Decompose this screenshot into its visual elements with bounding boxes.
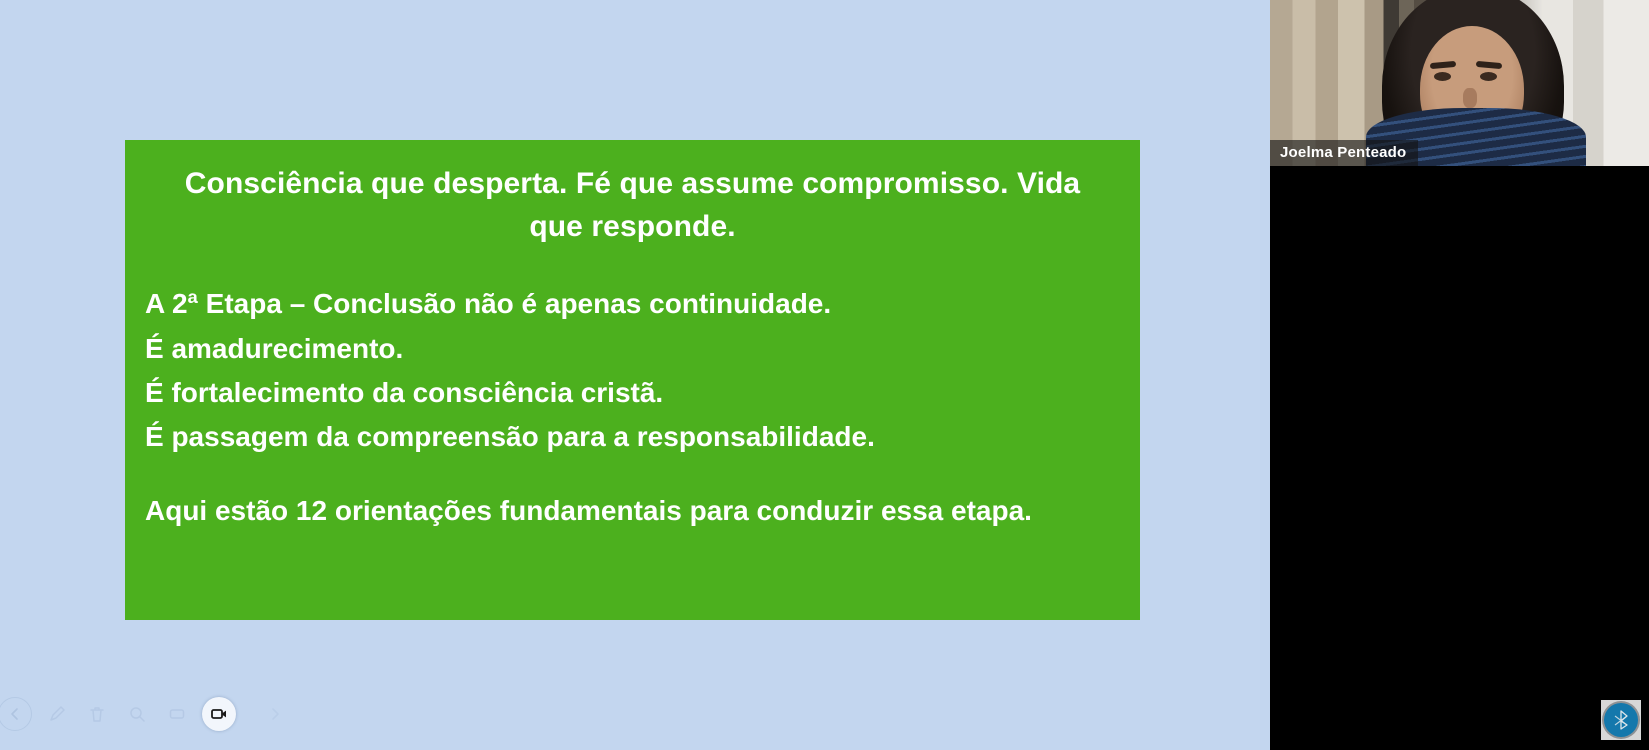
slide-content-card: Consciência que desperta. Fé que assume … — [125, 140, 1140, 620]
pen-icon[interactable] — [42, 699, 72, 729]
slide-body-line: É amadurecimento. — [145, 327, 1130, 371]
slide-body-line: É fortalecimento da consciência cristã. — [145, 371, 1130, 415]
participant-name-label: Joelma Penteado — [1270, 140, 1418, 166]
zoom-icon[interactable] — [122, 699, 152, 729]
shared-slide-area: Consciência que desperta. Fé que assume … — [0, 0, 1270, 750]
seal-logo-circle — [1604, 703, 1638, 737]
slide-body-line: A 2ª Etapa – Conclusão não é apenas cont… — [145, 282, 1130, 326]
participant-video-tile[interactable]: Joelma Penteado — [1270, 0, 1649, 166]
meeting-screen: Consciência que desperta. Fé que assume … — [0, 0, 1649, 750]
video-record-icon[interactable] — [202, 697, 236, 731]
slide-body-line: É passagem da compreensão para a respons… — [145, 415, 1130, 459]
participant-nose — [1463, 88, 1477, 108]
participant-eye-right — [1480, 72, 1497, 81]
slide-closing-text: Aqui estão 12 orientações fundamentais p… — [135, 489, 1130, 533]
video-panel: Joelma Penteado — [1270, 0, 1649, 750]
presenter-toolbar[interactable] — [0, 686, 420, 742]
slide-spacer — [135, 459, 1130, 489]
shape-icon[interactable] — [162, 699, 192, 729]
trash-icon[interactable] — [82, 699, 112, 729]
chevron-right-icon[interactable] — [260, 699, 290, 729]
collapse-left-icon[interactable] — [0, 697, 32, 731]
slide-title: Consciência que desperta. Fé que assume … — [135, 162, 1130, 248]
seal-logo — [1601, 700, 1641, 740]
slide-body-list: A 2ª Etapa – Conclusão não é apenas cont… — [135, 282, 1130, 459]
participant-eye-left — [1434, 72, 1451, 81]
